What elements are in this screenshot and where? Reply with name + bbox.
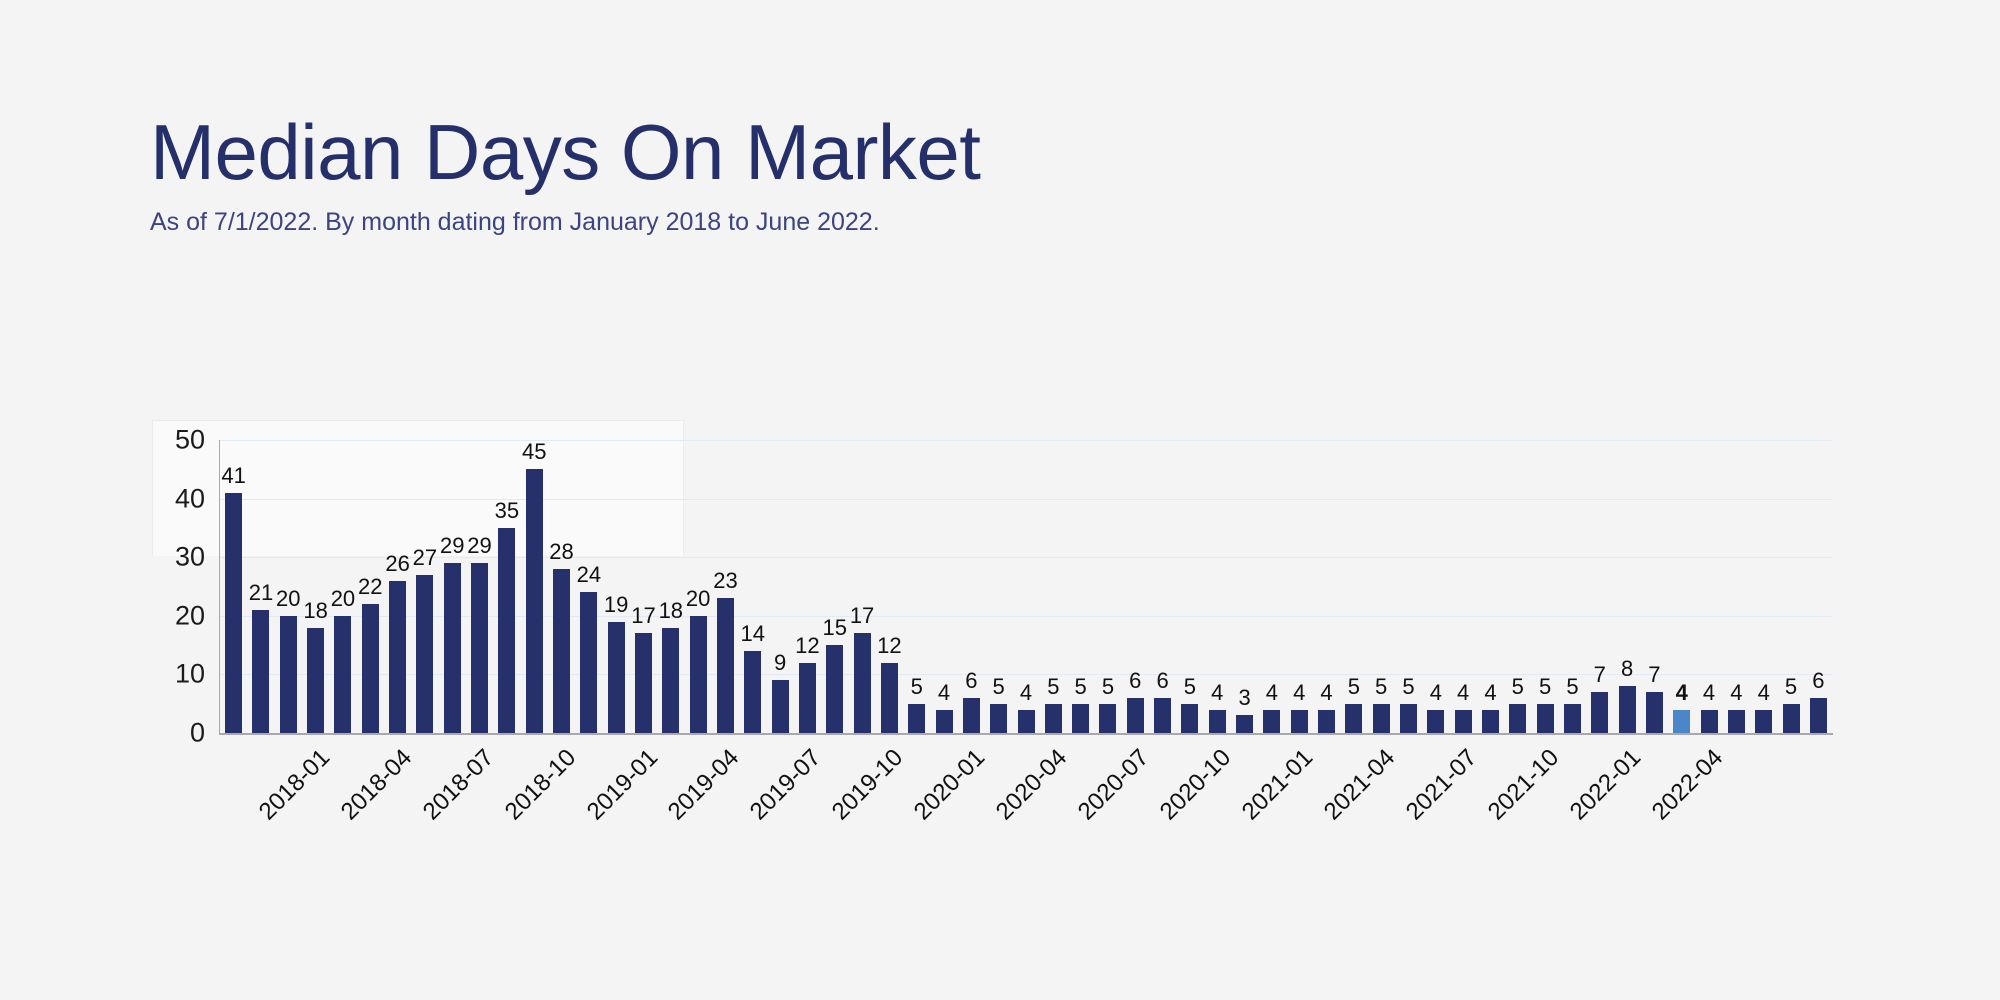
bar[interactable]	[1564, 704, 1581, 733]
bar-value-label: 23	[713, 568, 737, 594]
bar[interactable]	[362, 604, 379, 733]
y-axis-tick-label: 30	[145, 542, 205, 573]
bar-value-label: 27	[413, 545, 437, 571]
bar[interactable]	[1263, 710, 1280, 733]
bar[interactable]	[881, 663, 898, 733]
bar-value-label: 6	[965, 668, 977, 694]
bar-value-label: 4	[1758, 680, 1770, 706]
bar-value-label: 6	[1812, 668, 1824, 694]
bar-value-label: 5	[1785, 674, 1797, 700]
bar-value-label: 9	[774, 650, 786, 676]
bar[interactable]	[1509, 704, 1526, 733]
bar-value-label: 5	[1348, 674, 1360, 700]
bar-value-label: 14	[741, 621, 765, 647]
x-axis-tick-label: 2020-01	[909, 744, 991, 826]
bar[interactable]	[1209, 710, 1226, 733]
bar[interactable]	[307, 628, 324, 733]
bar-value-label: 4	[1211, 680, 1223, 706]
bar-value-label: 20	[331, 586, 355, 612]
bar-value-label: 28	[549, 539, 573, 565]
x-axis-tick-label: 2021-04	[1319, 744, 1401, 826]
bar-value-label: 4	[1676, 680, 1688, 706]
bar[interactable]	[1427, 710, 1444, 733]
bar-value-label: 5	[993, 674, 1005, 700]
x-axis-tick-label: 2019-01	[581, 744, 663, 826]
x-axis-tick-label: 2018-07	[417, 744, 499, 826]
bar[interactable]	[608, 622, 625, 733]
x-axis-tick-label: 2019-07	[745, 744, 827, 826]
bar[interactable]	[444, 563, 461, 733]
bar-value-label: 19	[604, 592, 628, 618]
y-axis-tick-label: 0	[145, 718, 205, 749]
bar[interactable]	[799, 663, 816, 733]
x-axis-tick-label: 2021-07	[1401, 744, 1483, 826]
bar[interactable]	[1291, 710, 1308, 733]
bar-value-label: 12	[877, 633, 901, 659]
bar[interactable]	[963, 698, 980, 733]
bar-value-label: 20	[686, 586, 710, 612]
bar-value-label: 4	[1320, 680, 1332, 706]
bar-value-label: 4	[1484, 680, 1496, 706]
bar-value-label: 5	[1402, 674, 1414, 700]
x-axis-tick-label: 2018-10	[499, 744, 581, 826]
bar-value-label: 5	[1375, 674, 1387, 700]
bar-value-label: 18	[303, 598, 327, 624]
bar-value-label: 6	[1156, 668, 1168, 694]
bar[interactable]	[1099, 704, 1116, 733]
bar[interactable]	[1455, 710, 1472, 733]
bar[interactable]	[1345, 704, 1362, 733]
bar[interactable]	[1783, 704, 1800, 733]
bar[interactable]	[498, 528, 515, 733]
x-axis-tick-label: 2021-01	[1237, 744, 1319, 826]
bar[interactable]	[526, 469, 543, 733]
bar-value-label: 5	[1512, 674, 1524, 700]
plot-area: 4121201820222627292935452824191718202314…	[220, 440, 1832, 733]
x-axis-tick-label: 2019-10	[827, 744, 909, 826]
y-axis-tick-label: 20	[145, 600, 205, 631]
bar-value-label: 41	[221, 463, 245, 489]
bar[interactable]	[280, 616, 297, 733]
bar[interactable]	[635, 633, 652, 733]
x-axis-tick-label: 2022-04	[1647, 744, 1729, 826]
bar[interactable]	[553, 569, 570, 733]
bar-value-label: 18	[659, 598, 683, 624]
bar[interactable]	[1728, 710, 1745, 733]
bar[interactable]	[1591, 692, 1608, 733]
bar[interactable]	[1181, 704, 1198, 733]
bar-value-label: 24	[577, 562, 601, 588]
bar-value-label: 5	[911, 674, 923, 700]
bar[interactable]	[1072, 704, 1089, 733]
bar-value-label: 4	[1020, 680, 1032, 706]
bar[interactable]	[908, 704, 925, 733]
bar[interactable]	[826, 645, 843, 733]
bar-value-label: 29	[467, 533, 491, 559]
gridline	[220, 499, 1832, 500]
bar[interactable]	[690, 616, 707, 733]
bar[interactable]	[1127, 698, 1144, 733]
bar[interactable]	[1318, 710, 1335, 733]
bar-value-label: 17	[850, 603, 874, 629]
x-axis-tick-label: 2018-04	[335, 744, 417, 826]
gridline	[220, 440, 1832, 441]
bar-value-label: 4	[1730, 680, 1742, 706]
bar[interactable]	[1810, 698, 1827, 733]
bar-value-label: 5	[1566, 674, 1578, 700]
bar-value-label: 4	[938, 680, 950, 706]
y-axis-ticks: 01020304050	[130, 440, 205, 733]
bar-value-label: 5	[1102, 674, 1114, 700]
bar-value-label: 6	[1129, 668, 1141, 694]
bar-value-label: 22	[358, 574, 382, 600]
x-axis-tick-label: 2020-07	[1073, 744, 1155, 826]
bar[interactable]	[1154, 698, 1171, 733]
x-axis-tick-label: 2022-01	[1565, 744, 1647, 826]
bar-value-label: 35	[495, 498, 519, 524]
bar[interactable]	[252, 610, 269, 733]
bar[interactable]	[1236, 715, 1253, 733]
bar[interactable]	[936, 710, 953, 733]
bar-value-label: 4	[1703, 680, 1715, 706]
x-axis-tick-label: 2020-04	[991, 744, 1073, 826]
bar[interactable]	[717, 598, 734, 733]
x-axis-tick-label: 2021-10	[1483, 744, 1565, 826]
bar[interactable]	[662, 628, 679, 733]
bar[interactable]	[1755, 710, 1772, 733]
bar-value-label: 4	[1457, 680, 1469, 706]
bar-value-label: 20	[276, 586, 300, 612]
bar[interactable]	[854, 633, 871, 733]
bar[interactable]	[580, 592, 597, 733]
bar[interactable]	[1482, 710, 1499, 733]
bar[interactable]	[416, 575, 433, 733]
bar-value-label: 4	[1293, 680, 1305, 706]
bar-value-label: 21	[249, 580, 273, 606]
bar[interactable]	[1400, 704, 1417, 733]
bar[interactable]	[225, 493, 242, 733]
y-axis-tick-label: 40	[145, 483, 205, 514]
bar-value-label: 5	[1539, 674, 1551, 700]
bar[interactable]	[1373, 704, 1390, 733]
bar-value-label: 4	[1266, 680, 1278, 706]
bar-value-label: 29	[440, 533, 464, 559]
bar-value-label: 8	[1621, 656, 1633, 682]
bar[interactable]	[1619, 686, 1636, 733]
bar-value-label: 12	[795, 633, 819, 659]
y-axis-tick-label: 50	[145, 425, 205, 456]
bar-value-label: 26	[385, 551, 409, 577]
gridline	[220, 616, 1832, 617]
x-axis-line	[219, 733, 1833, 735]
x-axis-tick-label: 2020-10	[1155, 744, 1237, 826]
bar-value-label: 3	[1238, 685, 1250, 711]
bar[interactable]	[1537, 704, 1554, 733]
bar[interactable]	[334, 616, 351, 733]
bar[interactable]	[389, 581, 406, 733]
x-axis-tick-label: 2019-04	[663, 744, 745, 826]
y-axis-tick-label: 10	[145, 659, 205, 690]
bar-value-label: 17	[631, 603, 655, 629]
bar-value-label: 5	[1047, 674, 1059, 700]
bar[interactable]	[744, 651, 761, 733]
bar-value-label: 15	[822, 615, 846, 641]
bar[interactable]	[1646, 692, 1663, 733]
bar[interactable]	[1701, 710, 1718, 733]
bar[interactable]	[1018, 710, 1035, 733]
bar-value-label: 4	[1430, 680, 1442, 706]
bar-value-label: 7	[1594, 662, 1606, 688]
bar[interactable]	[471, 563, 488, 733]
x-axis-tick-label: 2018-01	[253, 744, 335, 826]
bar[interactable]	[1673, 710, 1690, 733]
bar-value-label: 5	[1075, 674, 1087, 700]
bar[interactable]	[990, 704, 1007, 733]
bar[interactable]	[1045, 704, 1062, 733]
bar-value-label: 7	[1648, 662, 1660, 688]
bar[interactable]	[772, 680, 789, 733]
bar-value-label: 45	[522, 439, 546, 465]
gridline	[220, 674, 1832, 675]
bar-chart: 01020304050 4121201820222627292935452824…	[0, 0, 2000, 1000]
bar-value-label: 5	[1184, 674, 1196, 700]
